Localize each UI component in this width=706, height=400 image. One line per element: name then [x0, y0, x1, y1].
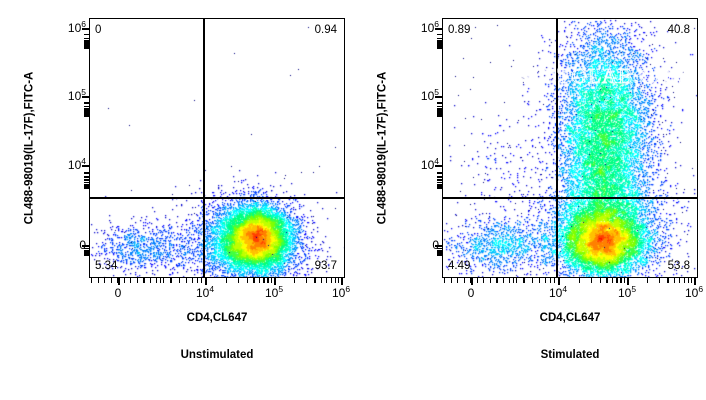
x-tick-1e4-right: 104 — [549, 286, 567, 300]
panel-stimulated: CL488-98019(IL-17F),FITC-A 106 105 104 0… — [353, 0, 706, 400]
y-tick-minor — [437, 106, 442, 107]
y-tick-minor — [437, 38, 442, 39]
x-tick-0-right: 0 — [468, 286, 475, 300]
x-tick-minor — [679, 278, 680, 283]
x-tick-minor — [684, 278, 685, 283]
x-tick-minor — [314, 278, 315, 283]
quadrant-pct-bottom-right-stim: 53.8 — [668, 260, 690, 272]
y-tick-mark — [435, 28, 442, 30]
quadrant-pct-top-left-unstim: 0 — [95, 24, 101, 36]
x-tick-minor — [523, 278, 524, 283]
quadrant-pct-bottom-left-unstim: 5.34 — [95, 260, 117, 272]
y-tick-minor — [84, 172, 89, 173]
quadrant-vertical-line-right — [556, 19, 558, 277]
y-tick-mark — [82, 28, 89, 30]
y-tick-minor — [84, 188, 89, 189]
x-tick-minor — [483, 278, 484, 283]
x-tick-minor — [451, 278, 452, 283]
y-tick-minor — [437, 172, 442, 173]
x-tick-minor — [124, 278, 125, 283]
x-tick-1e5-left: 105 — [265, 286, 283, 300]
x-tick-minor — [201, 278, 202, 283]
quadrant-pct-top-right-stim: 40.8 — [668, 24, 690, 36]
x-tick-minor — [550, 278, 551, 283]
x-tick-minor — [470, 278, 471, 283]
x-tick-minor — [591, 278, 592, 283]
quadrant-pct-top-right-unstim: 0.94 — [315, 24, 337, 36]
panel-title-stimulated: Stimulated — [442, 349, 698, 361]
y-tick-minor — [84, 38, 89, 39]
y-tick-minor — [437, 116, 442, 117]
x-tick-minor — [267, 278, 268, 283]
x-tick-minor — [647, 278, 648, 283]
x-tick-minor — [294, 278, 295, 283]
x-tick-minor — [539, 278, 540, 283]
x-tick-minor — [247, 278, 248, 283]
panel-unstimulated: CL488-98019(IL-17F),FITC-A 106 105 104 0… — [0, 0, 353, 400]
x-tick-1e6-left: 106 — [332, 286, 350, 300]
x-tick-minor — [464, 278, 465, 283]
quadrant-pct-bottom-right-unstim: 93.7 — [315, 260, 337, 272]
y-axis-ticks-right: 106 105 104 0 — [393, 0, 439, 400]
scatter-canvas-stimulated — [443, 19, 698, 278]
y-tick-mark — [82, 165, 89, 167]
x-tick-minor — [150, 278, 151, 283]
y-tick-mark — [435, 96, 442, 98]
x-tick-mark — [694, 278, 696, 285]
x-tick-minor — [104, 278, 105, 283]
x-tick-1e5-right: 105 — [618, 286, 636, 300]
x-tick-minor — [612, 278, 613, 283]
x-tick-minor — [620, 278, 621, 283]
y-tick-minor — [437, 176, 442, 177]
x-tick-minor — [554, 278, 555, 283]
x-tick-minor — [263, 278, 264, 283]
quadrant-vertical-line-left — [203, 19, 205, 277]
x-tick-minor — [691, 278, 692, 283]
y-tick-minor — [84, 34, 89, 35]
y-tick-minor — [84, 255, 89, 256]
x-tick-0-left: 0 — [115, 286, 122, 300]
x-tick-minor — [98, 278, 99, 283]
x-tick-minor — [600, 278, 601, 283]
x-tick-mark — [627, 278, 629, 285]
x-axis-label-left: CD4,CL647 — [89, 312, 345, 324]
x-tick-minor — [674, 278, 675, 283]
x-tick-minor — [688, 278, 689, 283]
x-tick-minor — [667, 278, 668, 283]
quadrant-horizontal-line-left — [90, 197, 344, 199]
y-tick-mark — [435, 245, 442, 247]
y-tick-minor — [84, 116, 89, 117]
x-tick-minor — [545, 278, 546, 283]
x-tick-mark — [274, 278, 276, 285]
x-tick-minor — [331, 278, 332, 283]
x-tick-minor — [111, 278, 112, 283]
y-tick-minor — [84, 47, 89, 48]
x-tick-minor — [186, 278, 187, 283]
x-tick-minor — [321, 278, 322, 283]
x-tick-minor — [226, 278, 227, 283]
x-tick-minor — [170, 278, 171, 283]
x-tick-minor — [160, 278, 161, 283]
x-tick-minor — [497, 278, 498, 283]
x-tick-minor — [163, 278, 164, 283]
y-tick-minor — [437, 179, 442, 180]
y-tick-minor — [437, 102, 442, 103]
x-tick-1e4-left: 104 — [196, 286, 214, 300]
quadrant-pct-top-left-stim: 0.89 — [448, 24, 470, 36]
plot-area-stimulated[interactable]: 0.89 40.8 4.49 53.8 WWW.PTGLAB.COM — [442, 18, 698, 278]
y-tick-minor — [437, 188, 442, 189]
x-tick-minor — [490, 278, 491, 283]
y-axis-label-right: CL488-98019(IL-17F),FITC-A — [371, 18, 393, 278]
y-tick-minor — [437, 255, 442, 256]
y-axis-ticks-left: 106 105 104 0 — [40, 0, 86, 400]
x-tick-minor — [659, 278, 660, 283]
x-tick-minor — [579, 278, 580, 283]
x-tick-minor — [144, 278, 145, 283]
x-tick-minor — [271, 278, 272, 283]
y-tick-minor — [437, 47, 442, 48]
x-tick-minor — [326, 278, 327, 283]
x-tick-minor — [192, 278, 193, 283]
y-tick-minor — [84, 102, 89, 103]
x-tick-minor — [143, 278, 144, 283]
x-tick-minor — [179, 278, 180, 283]
quadrant-horizontal-line-right — [443, 197, 697, 199]
x-tick-mark — [341, 278, 343, 285]
x-tick-1e6-right: 106 — [685, 286, 703, 300]
x-tick-minor — [91, 278, 92, 283]
x-tick-minor — [338, 278, 339, 283]
x-tick-minor — [156, 278, 157, 283]
y-tick-mark — [435, 165, 442, 167]
x-tick-minor — [253, 278, 254, 283]
x-tick-minor — [457, 278, 458, 283]
x-tick-minor — [238, 278, 239, 283]
figure-root: CL488-98019(IL-17F),FITC-A 106 105 104 0… — [0, 0, 706, 400]
x-axis-label-right: CD4,CL647 — [442, 312, 698, 324]
plot-area-unstimulated[interactable]: 0 0.94 5.34 93.7 — [89, 18, 345, 278]
x-tick-minor — [513, 278, 514, 283]
x-tick-minor — [509, 278, 510, 283]
y-tick-minor — [437, 34, 442, 35]
x-tick-minor — [117, 278, 118, 283]
x-tick-minor — [606, 278, 607, 283]
x-tick-mark — [558, 278, 560, 285]
x-tick-minor — [444, 278, 445, 283]
x-tick-minor — [516, 278, 517, 283]
x-tick-minor — [477, 278, 478, 283]
y-tick-mark — [82, 96, 89, 98]
y-tick-minor — [84, 176, 89, 177]
y-axis-label-left: CL488-98019(IL-17F),FITC-A — [18, 18, 40, 278]
x-tick-minor — [259, 278, 260, 283]
quadrant-pct-bottom-left-stim: 4.49 — [448, 260, 470, 272]
x-tick-minor — [624, 278, 625, 283]
x-tick-minor — [496, 278, 497, 283]
scatter-canvas-unstimulated — [90, 19, 345, 278]
x-tick-mark — [205, 278, 207, 285]
y-tick-mark — [82, 245, 89, 247]
x-tick-minor — [335, 278, 336, 283]
x-tick-minor — [137, 278, 138, 283]
panel-title-unstimulated: Unstimulated — [89, 349, 345, 361]
y-tick-minor — [84, 106, 89, 107]
x-tick-minor — [503, 278, 504, 283]
x-tick-minor — [306, 278, 307, 283]
y-tick-minor — [84, 179, 89, 180]
x-tick-minor — [130, 278, 131, 283]
x-tick-minor — [532, 278, 533, 283]
x-tick-minor — [197, 278, 198, 283]
x-tick-minor — [616, 278, 617, 283]
